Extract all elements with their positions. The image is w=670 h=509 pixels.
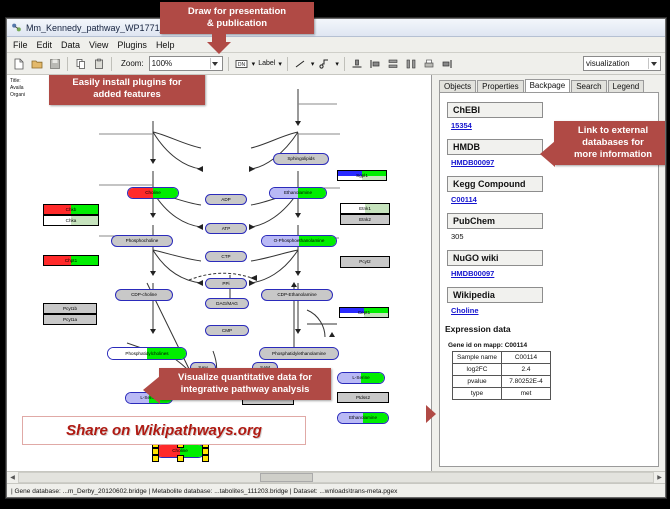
gene-node-chkb[interactable]: Chkb — [43, 204, 99, 215]
print-tool-icon[interactable] — [422, 56, 437, 71]
scroll-thumb[interactable] — [260, 473, 313, 482]
node-label: Pcyt1b — [63, 306, 77, 312]
menu-data[interactable]: Data — [61, 40, 80, 50]
toolbar-sep — [287, 57, 288, 71]
chevron-down-icon[interactable]: ▾ — [311, 60, 315, 68]
metabolite-node-l-serine-right[interactable]: L-Serine — [337, 372, 385, 384]
node-label: Choline — [172, 448, 188, 454]
zoom-value: 100% — [152, 59, 172, 68]
menubar: File Edit Data View Plugins Help — [7, 37, 665, 53]
side-panel: Objects Properties Backpage Search Legen… — [432, 75, 665, 471]
metabolite-node-ethanolamine-right[interactable]: Ethanolamine — [337, 412, 389, 424]
metabolite-node-dagmag[interactable]: DAG/MAG — [205, 298, 249, 309]
selection-handle[interactable] — [177, 455, 184, 462]
gene-node-etnk1[interactable]: Etnk1 — [340, 203, 390, 214]
distribute-vertical-tool-icon[interactable] — [386, 56, 401, 71]
share-banner: Share on Wikipathways.org — [22, 416, 306, 445]
xref-db-label: PubChem — [447, 213, 543, 229]
chevron-down-icon[interactable]: ▾ — [252, 60, 256, 68]
main-split: Title: Availa Organi — [7, 75, 665, 471]
new-file-icon[interactable] — [11, 56, 26, 71]
node-label: Chkb — [66, 207, 77, 213]
node-label: Etnk1 — [359, 206, 371, 212]
node-label: Sgpl1 — [356, 173, 368, 179]
expr-key: type — [453, 388, 502, 400]
paste-icon[interactable] — [91, 56, 106, 71]
node-label: Phosphocholine — [126, 238, 159, 244]
tab-legend[interactable]: Legend — [608, 80, 645, 92]
expr-val: 7.80252E-4 — [502, 376, 551, 388]
node-label: Pcyt1a — [63, 317, 77, 323]
node-label: Cept1 — [358, 310, 370, 316]
table-row: type met — [453, 388, 551, 400]
xref-wikipedia: Wikipedia Choline — [447, 285, 658, 315]
tab-objects[interactable]: Objects — [439, 80, 476, 92]
metabolite-node-sphingolipids[interactable]: Sphingolipids — [273, 153, 329, 165]
window-titlebar: Mm_Kennedy_pathway_WP1771_45176.gpml — [7, 19, 665, 37]
toolbar: Zoom: 100% DN ▾ Label ▾ ▾ ▾ — [7, 53, 665, 75]
xref-db-label: HMDB — [447, 139, 543, 155]
gene-node-etnk2[interactable]: Etnk2 — [340, 214, 390, 225]
datanode-tool-icon[interactable]: DN — [234, 56, 249, 71]
visualization-value: visualization — [586, 59, 630, 68]
selection-handle[interactable] — [202, 448, 209, 455]
copy-icon[interactable] — [73, 56, 88, 71]
table-row: Sample name C00114 — [453, 352, 551, 364]
gene-node-chka[interactable]: Chka — [43, 215, 99, 226]
menu-view[interactable]: View — [89, 40, 108, 50]
xref-db-label: NuGO wiki — [447, 250, 543, 266]
node-label: L-Serine — [352, 375, 369, 381]
label-tool-label[interactable]: Label — [258, 60, 275, 67]
toolbar-sep — [344, 57, 345, 71]
metabolite-node-cdp-ethanolamine[interactable]: CDP-Ethanolamine — [261, 289, 333, 301]
visualize-callout-arrow — [143, 376, 160, 404]
expr-val: 2.4 — [502, 364, 551, 376]
selection-handle[interactable] — [202, 455, 209, 462]
expr-key: Sample name — [453, 352, 502, 364]
side-panel-tabs: Objects Properties Backpage Search Legen… — [432, 78, 665, 92]
node-label: CTP — [221, 254, 230, 260]
gene-node-chpt1[interactable]: Chpt1 — [43, 255, 99, 266]
expr-key: log2FC — [453, 364, 502, 376]
visualization-combo[interactable]: visualization — [583, 56, 661, 71]
table-row: pvalue 7.80252E-4 — [453, 376, 551, 388]
xref-kegg: Kegg Compound C00114 — [447, 174, 658, 204]
toolbar-sep — [228, 57, 229, 71]
scroll-trough[interactable] — [18, 472, 654, 483]
gene-node-cept1[interactable]: Cept1 — [339, 307, 389, 318]
node-label: CDP-choline — [131, 292, 157, 298]
scroll-right-icon[interactable]: ▶ — [654, 473, 665, 482]
plugins-callout: Easily install plugins for added feature… — [49, 75, 205, 105]
expr-val: met — [502, 388, 551, 400]
distribute-horizontal-tool-icon[interactable] — [404, 56, 419, 71]
node-label: Ethanolamine — [349, 415, 377, 421]
draw-callout-arrow-stem — [212, 32, 226, 42]
metabolite-node-o-phosphoethanolamine[interactable]: O-Phosphoethanolamine — [261, 235, 337, 247]
selection-handle[interactable] — [152, 455, 159, 462]
pathvisio-window: Mm_Kennedy_pathway_WP1771_45176.gpml Fil… — [6, 18, 666, 498]
metabolite-node-cdp-choline[interactable]: CDP-choline — [115, 289, 173, 301]
xref-db-label: Wikipedia — [447, 287, 543, 303]
xref-value[interactable]: C00114 — [451, 195, 658, 204]
chevron-down-icon[interactable]: ▾ — [278, 60, 282, 68]
tab-backpage[interactable]: Backpage — [525, 79, 571, 92]
node-label: CDP-Ethanolamine — [277, 292, 316, 298]
node-label: PPi — [222, 281, 229, 287]
node-label: Pcyt2 — [359, 259, 371, 265]
expression-table: Sample name C00114 log2FC 2.4 pvalue 7.8… — [452, 351, 551, 400]
pathvisio-icon — [11, 22, 22, 33]
status-bar: | Gene database: ...m_Derby_20120602.bri… — [7, 483, 665, 498]
tab-search[interactable]: Search — [571, 80, 606, 92]
node-label: Sphingolipids — [287, 156, 314, 162]
anchor-tool-icon[interactable] — [317, 56, 332, 71]
align-bottom-tool-icon[interactable] — [350, 56, 365, 71]
gene-node-pcyt1a[interactable]: Pcyt1a — [43, 314, 97, 325]
chevron-down-icon[interactable] — [210, 58, 220, 69]
gene-node-pcyt1b[interactable]: Pcyt1b — [43, 303, 97, 314]
menu-help[interactable]: Help — [156, 40, 175, 50]
expression-callout-arrow — [426, 405, 436, 423]
scroll-left-icon[interactable]: ◀ — [7, 473, 18, 482]
draw-callout-arrow-head — [207, 42, 231, 54]
expr-key: pvalue — [453, 376, 502, 388]
metabolite-node-ethanolamine-top[interactable]: Ethanolamine — [269, 187, 327, 199]
xref-pubchem: PubChem 305 — [447, 211, 658, 241]
metabolite-node-phosphocholine[interactable]: Phosphocholine — [111, 235, 173, 247]
gene-node-sgpl1[interactable]: Sgpl1 — [337, 170, 387, 181]
selection-handle[interactable] — [152, 448, 159, 455]
node-label: Ethanolamine — [284, 190, 312, 196]
metabolite-node-cmp[interactable]: CMP — [205, 325, 249, 336]
chevron-down-icon[interactable]: ▾ — [335, 60, 339, 68]
metabolite-node-atp[interactable]: ATP — [205, 223, 247, 234]
xref-db-label: Kegg Compound — [447, 176, 543, 192]
visualize-callout: Visualize quantitative data for integrat… — [159, 368, 331, 400]
zoom-combo[interactable]: 100% — [149, 56, 223, 71]
line-tool-icon[interactable] — [293, 56, 308, 71]
svg-text:DN: DN — [238, 62, 246, 68]
node-label: CMP — [222, 328, 232, 334]
metabolite-node-ctp[interactable]: CTP — [205, 251, 247, 262]
node-label: Chpt1 — [65, 258, 77, 264]
horizontal-scrollbar[interactable]: ◀ ▶ — [7, 471, 665, 483]
menu-plugins[interactable]: Plugins — [117, 40, 147, 50]
node-label: O-Phosphoethanolamine — [274, 238, 325, 244]
align-left-tool-icon[interactable] — [368, 56, 383, 71]
node-label: Ptdss2 — [356, 395, 370, 401]
toolbar-sep — [67, 57, 68, 71]
draw-callout: Draw for presentation & publication — [160, 2, 314, 34]
xref-db-label: ChEBI — [447, 102, 543, 118]
node-label: DAG/MAG — [216, 301, 238, 307]
metabolite-node-phosphatidylethanolamine[interactable]: Phosphatidylethanolamine — [259, 347, 339, 360]
xref-value[interactable]: HMDB00097 — [451, 269, 658, 278]
node-label: Etnk2 — [359, 217, 371, 223]
metabolite-node-adp[interactable]: ADP — [205, 194, 247, 205]
node-label: Phosphatidylcholines — [125, 351, 168, 357]
xref-nugo: NuGO wiki HMDB00097 — [447, 248, 658, 278]
node-label: ADP — [221, 197, 230, 203]
links-callout-arrow — [540, 141, 555, 167]
gene-node-pcyt2[interactable]: Pcyt2 — [340, 256, 390, 268]
menu-edit[interactable]: Edit — [37, 40, 53, 50]
open-folder-icon[interactable] — [29, 56, 44, 71]
zoom-label: Zoom: — [121, 59, 144, 68]
gene-id-line: Gene id on mapp: C00114 — [448, 342, 658, 349]
tab-properties[interactable]: Properties — [477, 80, 523, 92]
links-callout: Link to external databases for more info… — [554, 121, 666, 165]
xref-value[interactable]: Choline — [451, 306, 658, 315]
expression-data-header: Expression data — [445, 324, 658, 334]
metabolite-node-choline-top[interactable]: Choline — [127, 187, 179, 199]
node-label: Phosphatidylethanolamine — [272, 351, 326, 357]
gene-node-ptdss2[interactable]: Ptdss2 — [337, 392, 389, 403]
toolbar-sep — [111, 57, 112, 71]
pathway-canvas[interactable]: Title: Availa Organi — [7, 75, 432, 471]
align-right-tool-icon[interactable] — [440, 56, 455, 71]
chevron-down-icon[interactable] — [648, 58, 658, 69]
expr-val: C00114 — [502, 352, 551, 364]
save-icon[interactable] — [47, 56, 62, 71]
status-text: | Gene database: ...m_Derby_20120602.bri… — [11, 488, 397, 495]
metabolite-node-ppi[interactable]: PPi — [205, 278, 247, 289]
node-label: Choline — [145, 190, 161, 196]
node-label: Chka — [66, 218, 77, 224]
metabolite-node-phosphatidylcholines[interactable]: Phosphatidylcholines — [107, 347, 187, 360]
node-label: ATP — [222, 226, 231, 232]
menu-file[interactable]: File — [13, 40, 28, 50]
xref-value: 305 — [451, 232, 658, 241]
table-row: log2FC 2.4 — [453, 364, 551, 376]
